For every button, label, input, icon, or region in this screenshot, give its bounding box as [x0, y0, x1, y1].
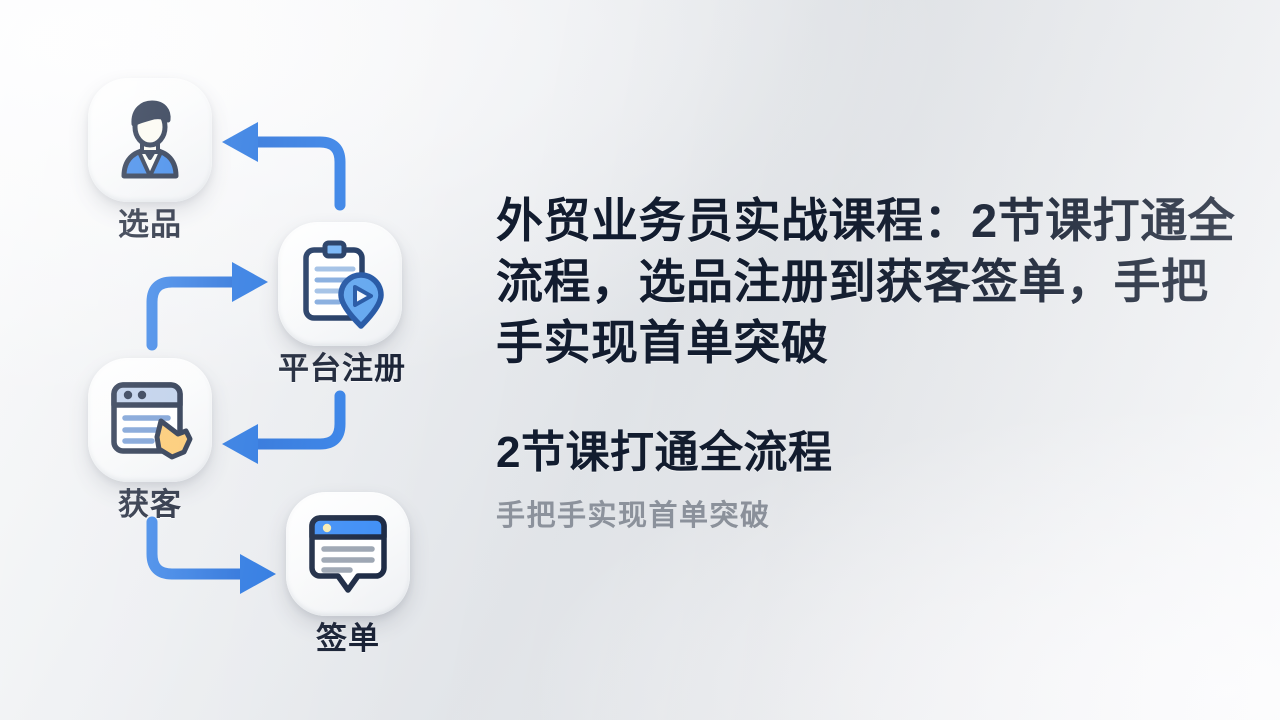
- tagline: 手把手实现首单突破: [496, 499, 1252, 534]
- flow-node-select-label: 选品: [88, 209, 212, 242]
- clipboard-location-icon: [295, 239, 385, 329]
- promo-canvas: 选品: [0, 0, 1280, 720]
- flow-node-sign-label: 签单: [286, 623, 410, 656]
- flow-node-sign-tile[interactable]: [286, 492, 410, 616]
- process-flow-diagram: 选品: [0, 0, 470, 720]
- subhead: 2节课打通全流程: [496, 427, 1252, 479]
- copy-column: 外贸业务员实战课程：2节课打通全流程，选品注册到获客签单，手把手实现首单突破 2…: [496, 190, 1252, 534]
- flow-node-register[interactable]: 平台注册: [278, 222, 402, 386]
- flow-node-acquire-label: 获客: [88, 489, 212, 522]
- speech-bubble-icon: [304, 510, 392, 598]
- subhead-block: 2节课打通全流程 手把手实现首单突破: [496, 427, 1252, 534]
- flow-node-register-label: 平台注册: [278, 353, 402, 386]
- businessperson-icon: [106, 96, 194, 184]
- flow-node-register-tile[interactable]: [278, 222, 402, 346]
- flow-node-acquire[interactable]: 获客: [88, 358, 212, 522]
- arrow-register-to-acquire: [222, 396, 340, 464]
- browser-click-icon: [106, 376, 194, 464]
- headline: 外贸业务员实战课程：2节课打通全流程，选品注册到获客签单，手把手实现首单突破: [496, 190, 1252, 373]
- flow-node-select[interactable]: 选品: [88, 78, 212, 242]
- flow-node-select-tile[interactable]: [88, 78, 212, 202]
- arrow-acquire-to-register: [152, 262, 268, 345]
- flow-node-acquire-tile[interactable]: [88, 358, 212, 482]
- arrow-register-to-select: [222, 122, 340, 205]
- arrow-acquire-to-sign: [152, 522, 276, 594]
- flow-node-sign[interactable]: 签单: [286, 492, 410, 656]
